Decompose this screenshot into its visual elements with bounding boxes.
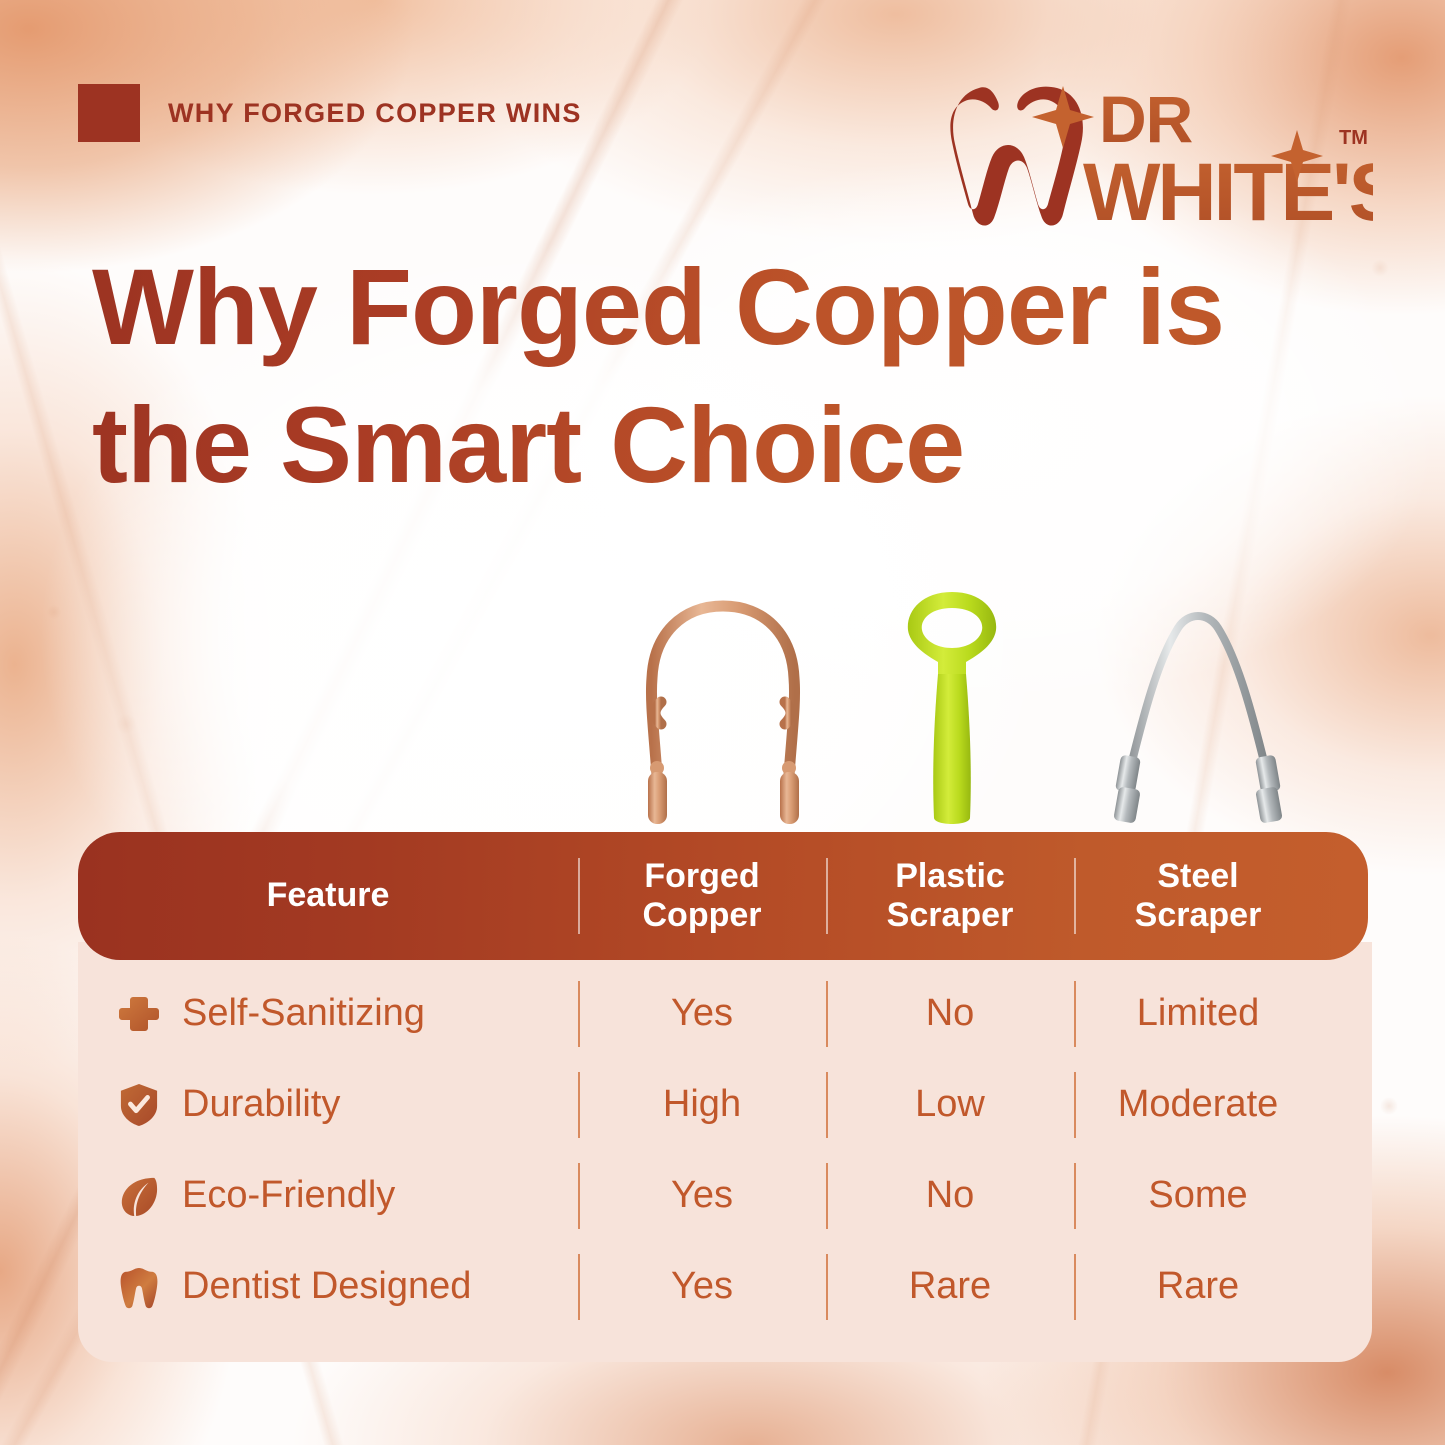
cell-divider <box>826 981 828 1047</box>
column-header-line1: Forged <box>644 857 759 895</box>
cell-steel-scraper: Rare <box>1074 1265 1322 1308</box>
column-header-feature: Feature <box>78 876 578 915</box>
column-divider <box>578 858 580 934</box>
feature-label: Eco-Friendly <box>182 1174 395 1217</box>
cell-forged-copper: Yes <box>578 1265 826 1308</box>
logo-line1: DR <box>1099 82 1193 156</box>
column-header-line1: Steel <box>1157 857 1238 895</box>
cell-plastic-scraper: No <box>826 1174 1074 1217</box>
feature-cell: Eco-Friendly <box>78 1174 578 1218</box>
cell-value: High <box>663 1083 741 1125</box>
feature-label: Dentist Designed <box>182 1265 471 1308</box>
cell-plastic-scraper: Low <box>826 1083 1074 1126</box>
plus-cross-icon <box>118 992 160 1036</box>
cell-plastic-scraper: Rare <box>826 1265 1074 1308</box>
shield-check-icon <box>118 1083 160 1127</box>
feature-cell: Durability <box>78 1083 578 1127</box>
plastic-scraper-image <box>888 582 1018 830</box>
leaf-icon <box>118 1174 160 1218</box>
feature-label: Durability <box>182 1083 340 1126</box>
feature-label: Self-Sanitizing <box>182 992 425 1035</box>
cell-divider <box>578 981 580 1047</box>
cell-value: No <box>926 992 975 1034</box>
brand-logo: DR WHITE'S TM <box>943 72 1373 244</box>
eyebrow-square-icon <box>78 84 140 142</box>
table-row: Eco-Friendly Yes No Some <box>78 1150 1372 1241</box>
cell-value: Low <box>915 1083 985 1125</box>
cell-plastic-scraper: No <box>826 992 1074 1035</box>
forged-copper-scraper-image <box>628 582 818 830</box>
cell-value: Some <box>1148 1174 1247 1216</box>
product-images <box>600 565 1360 830</box>
cell-divider <box>1074 1163 1076 1229</box>
cell-divider <box>826 1072 828 1138</box>
table-row: Self-Sanitizing Yes No Limited <box>78 968 1372 1059</box>
column-header-plastic-scraper: Plastic Scraper <box>826 857 1074 936</box>
logo-trademark: TM <box>1339 127 1368 149</box>
table-row: Durability High Low Moderate <box>78 1059 1372 1150</box>
cell-divider <box>826 1254 828 1320</box>
cell-divider <box>1074 1254 1076 1320</box>
table-header-row: Feature Forged Copper Plastic Scraper St… <box>78 832 1368 960</box>
eyebrow: WHY FORGED COPPER WINS <box>78 84 582 142</box>
column-header-forged-copper: Forged Copper <box>578 857 826 936</box>
cell-value: Yes <box>671 992 733 1034</box>
page-title: Why Forged Copper is the Smart Choice <box>92 238 1302 514</box>
column-header-line2: Scraper <box>887 896 1014 934</box>
cell-value: Yes <box>671 1265 733 1307</box>
cell-steel-scraper: Moderate <box>1074 1083 1322 1126</box>
cell-value: No <box>926 1174 975 1216</box>
table-body: Self-Sanitizing Yes No Limited <box>78 942 1372 1362</box>
cell-divider <box>578 1254 580 1320</box>
feature-cell: Dentist Designed <box>78 1265 578 1309</box>
infographic-poster: WHY FORGED COPPER WINS DR WHITE'S TM Why… <box>0 0 1445 1445</box>
column-header-line2: Scraper <box>1135 896 1262 934</box>
cell-forged-copper: Yes <box>578 992 826 1035</box>
cell-forged-copper: Yes <box>578 1174 826 1217</box>
cell-steel-scraper: Some <box>1074 1174 1322 1217</box>
cell-value: Rare <box>909 1265 991 1307</box>
column-divider <box>1074 858 1076 934</box>
column-header-steel-scraper: Steel Scraper <box>1074 857 1322 936</box>
feature-cell: Self-Sanitizing <box>78 992 578 1036</box>
brand-logo-svg: DR WHITE'S TM <box>943 72 1373 244</box>
column-divider <box>826 858 828 934</box>
cell-divider <box>578 1163 580 1229</box>
cell-divider <box>578 1072 580 1138</box>
steel-scraper-image <box>1100 582 1296 830</box>
cell-forged-copper: High <box>578 1083 826 1126</box>
cell-value: Yes <box>671 1174 733 1216</box>
cell-value: Moderate <box>1118 1083 1279 1125</box>
column-header-line1: Plastic <box>895 857 1005 895</box>
eyebrow-label: WHY FORGED COPPER WINS <box>168 98 582 129</box>
cell-value: Rare <box>1157 1265 1239 1307</box>
cell-divider <box>1074 981 1076 1047</box>
column-header-line2: Copper <box>643 896 762 934</box>
cell-steel-scraper: Limited <box>1074 992 1322 1035</box>
comparison-table: Feature Forged Copper Plastic Scraper St… <box>78 832 1372 1362</box>
cell-value: Limited <box>1137 992 1260 1034</box>
cell-divider <box>826 1163 828 1229</box>
tooth-icon <box>118 1265 160 1309</box>
logo-line2: WHITE'S <box>1083 147 1373 238</box>
table-row: Dentist Designed Yes Rare Rare <box>78 1241 1372 1332</box>
cell-divider <box>1074 1072 1076 1138</box>
